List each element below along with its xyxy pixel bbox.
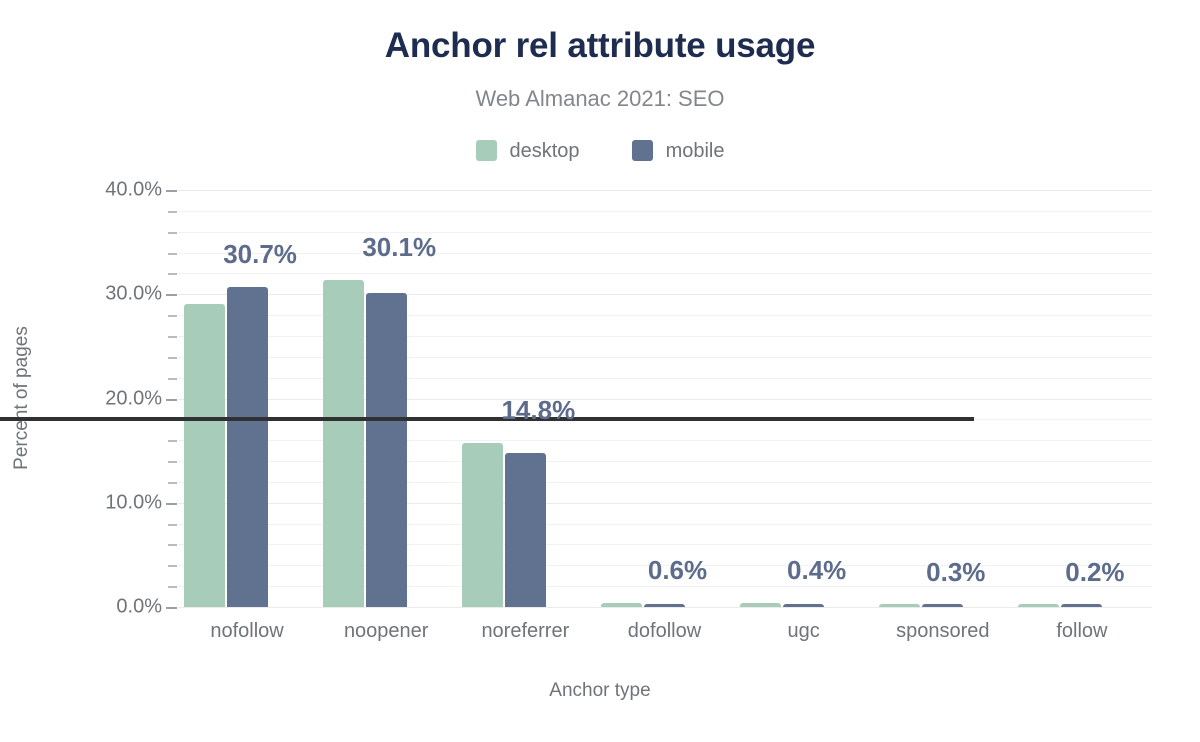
legend-item-desktop[interactable]: desktop xyxy=(476,140,580,161)
y-tick-mark xyxy=(168,482,177,484)
bar-desktop-noreferrer[interactable] xyxy=(462,443,503,607)
y-tick-mark xyxy=(168,440,177,442)
bar-desktop-ugc[interactable] xyxy=(740,603,781,607)
x-tick-label-nofollow: nofollow xyxy=(210,620,283,643)
x-tick-label-noreferrer: noreferrer xyxy=(481,620,569,643)
bar-mobile-noreferrer[interactable] xyxy=(505,453,546,607)
y-tick-mark xyxy=(168,232,177,234)
x-tick-label-noopener: noopener xyxy=(344,620,429,643)
chart-container: Anchor rel attribute usage Web Almanac 2… xyxy=(0,0,1200,742)
y-tick-mark xyxy=(168,357,177,359)
y-tick-label: 40.0% xyxy=(105,179,162,202)
y-tick-mark xyxy=(166,503,177,505)
bar-desktop-follow[interactable] xyxy=(1018,604,1059,607)
legend-swatch-desktop xyxy=(476,140,497,161)
y-tick-mark xyxy=(166,399,177,401)
gridline-minor xyxy=(178,273,1152,274)
bar-desktop-nofollow[interactable] xyxy=(184,304,225,607)
bar-desktop-noopener[interactable] xyxy=(323,280,364,607)
y-tick-mark xyxy=(168,461,177,463)
y-tick-mark xyxy=(168,544,177,546)
legend-swatch-mobile xyxy=(632,140,653,161)
y-tick-label: 30.0% xyxy=(105,283,162,306)
bar-desktop-sponsored[interactable] xyxy=(879,604,920,607)
y-tick-mark xyxy=(168,524,177,526)
y-tick-mark xyxy=(168,315,177,317)
x-axis-title: Anchor type xyxy=(0,680,1200,702)
legend-label: mobile xyxy=(666,141,725,161)
x-tick-label-ugc: ugc xyxy=(788,620,820,643)
bar-mobile-dofollow[interactable] xyxy=(644,604,685,607)
chart-legend: desktopmobile xyxy=(0,140,1200,161)
chart-title: Anchor rel attribute usage xyxy=(0,28,1200,65)
y-tick-mark xyxy=(168,378,177,380)
value-label-dofollow: 0.6% xyxy=(648,555,707,586)
x-tick-label-follow: follow xyxy=(1056,620,1107,643)
gridline-major xyxy=(178,190,1152,191)
value-label-noopener: 30.1% xyxy=(362,232,436,263)
value-label-noreferrer: 14.8% xyxy=(501,395,575,426)
y-tick-mark xyxy=(166,190,177,192)
bar-mobile-sponsored[interactable] xyxy=(922,604,963,607)
value-label-nofollow: 30.7% xyxy=(223,239,297,270)
bar-mobile-follow[interactable] xyxy=(1061,604,1102,607)
chart-subtitle: Web Almanac 2021: SEO xyxy=(0,86,1200,112)
plot-area xyxy=(178,190,1152,607)
value-label-ugc: 0.4% xyxy=(787,555,846,586)
y-tick-mark xyxy=(168,336,177,338)
y-tick-mark xyxy=(168,253,177,255)
gridline-minor xyxy=(178,253,1152,254)
gridline-major xyxy=(178,607,1152,608)
y-tick-mark xyxy=(168,565,177,567)
y-tick-mark xyxy=(166,607,177,609)
bar-mobile-noopener[interactable] xyxy=(366,293,407,607)
legend-label: desktop xyxy=(510,141,580,161)
gridline-minor xyxy=(178,232,1152,233)
x-tick-label-sponsored: sponsored xyxy=(896,620,989,643)
y-tick-label: 20.0% xyxy=(105,387,162,410)
value-label-sponsored: 0.3% xyxy=(926,557,985,588)
value-label-follow: 0.2% xyxy=(1065,557,1124,588)
y-tick-label: 0.0% xyxy=(116,596,162,619)
y-tick-mark xyxy=(168,211,177,213)
y-tick-label: 10.0% xyxy=(105,491,162,514)
gridline-minor xyxy=(178,211,1152,212)
bar-mobile-ugc[interactable] xyxy=(783,604,824,607)
y-tick-mark xyxy=(168,273,177,275)
x-tick-label-dofollow: dofollow xyxy=(628,620,701,643)
y-tick-mark xyxy=(168,586,177,588)
y-axis-title: Percent of pages xyxy=(11,326,33,470)
x-axis-line xyxy=(0,417,974,421)
bar-desktop-dofollow[interactable] xyxy=(601,603,642,607)
y-tick-mark xyxy=(166,294,177,296)
bar-mobile-nofollow[interactable] xyxy=(227,287,268,607)
legend-item-mobile[interactable]: mobile xyxy=(632,140,725,161)
